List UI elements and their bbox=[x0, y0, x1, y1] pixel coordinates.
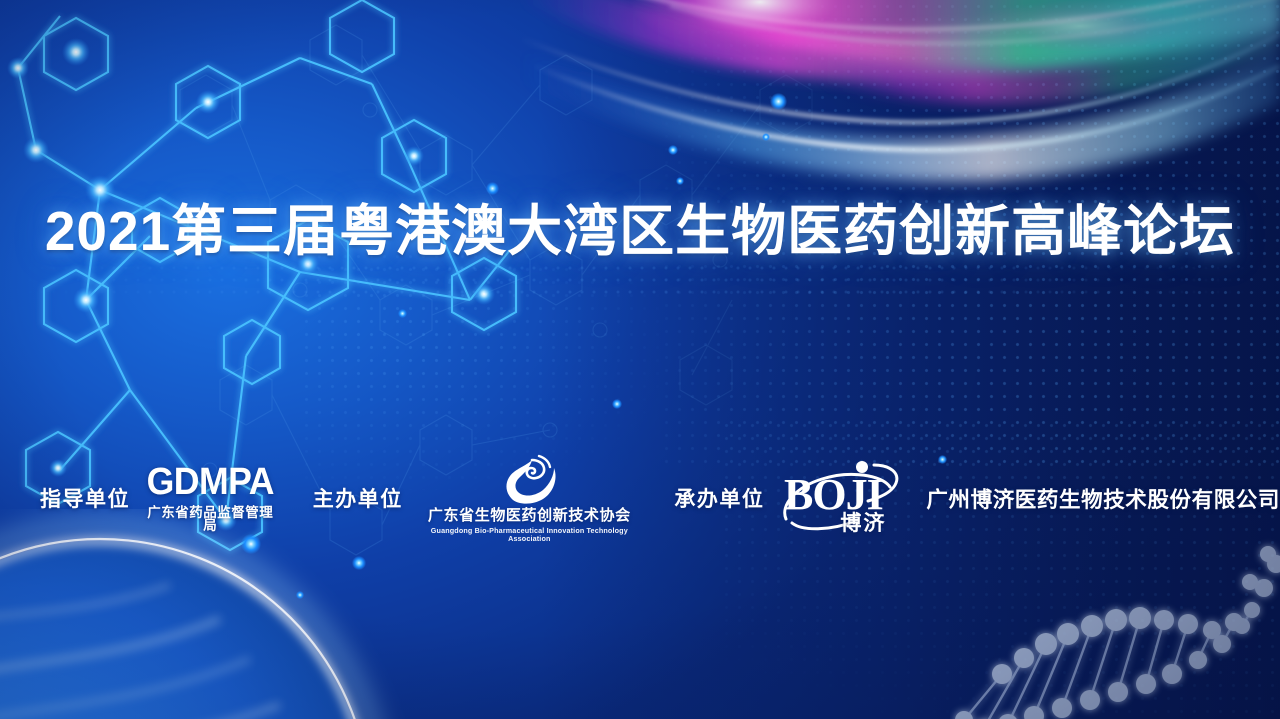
sponsor-row: 指导单位 GDMPA 广东省药品监督管理局 主办单位 广东省生物医药创新技术协会… bbox=[0, 442, 1280, 554]
sponsor-label-guidance: 指导单位 bbox=[40, 483, 130, 513]
sponsor-group-guidance: 指导单位 GDMPA 广东省药品监督管理局 bbox=[40, 442, 275, 554]
gdmpa-logo-en: GDMPA bbox=[141, 461, 280, 499]
page-title: 2021第三届粤港澳大湾区生物医药创新高峰论坛 bbox=[45, 196, 1235, 266]
association-name-cn: 广东省生物医药创新技术协会 bbox=[417, 508, 642, 523]
sponsor-group-host: 承办单位 BOJI 博济 广州博济医药生物技术股份有限公司 bbox=[674, 442, 1280, 554]
sponsor-group-organizer: 主办单位 广东省生物医药创新技术协会 Guangdong Bio-Pharmac… bbox=[313, 442, 642, 554]
sponsor-label-organizer: 主办单位 bbox=[313, 483, 403, 513]
boji-logo-cn: 博济 bbox=[840, 507, 886, 537]
background-vignette bbox=[0, 0, 1280, 719]
gdmpa-logo-cn: 广东省药品监督管理局 bbox=[146, 506, 275, 533]
boji-logo: BOJI 博济 bbox=[778, 457, 910, 539]
title-container: 2021第三届粤港澳大湾区生物医药创新高峰论坛 bbox=[0, 196, 1280, 266]
association-logo: 广东省生物医药创新技术协会 Guangdong Bio-Pharmaceutic… bbox=[417, 454, 642, 541]
gdmpa-logo: GDMPA 广东省药品监督管理局 bbox=[146, 464, 275, 533]
association-mark-icon bbox=[496, 454, 562, 506]
conference-banner: 2021第三届粤港澳大湾区生物医药创新高峰论坛 指导单位 GDMPA 广东省药品… bbox=[0, 0, 1280, 719]
sponsor-label-host: 承办单位 bbox=[674, 483, 764, 513]
host-company-name: 广州博济医药生物技术股份有限公司 bbox=[926, 483, 1280, 514]
association-name-en: Guangdong Bio-Pharmaceutical Innovation … bbox=[417, 527, 642, 541]
